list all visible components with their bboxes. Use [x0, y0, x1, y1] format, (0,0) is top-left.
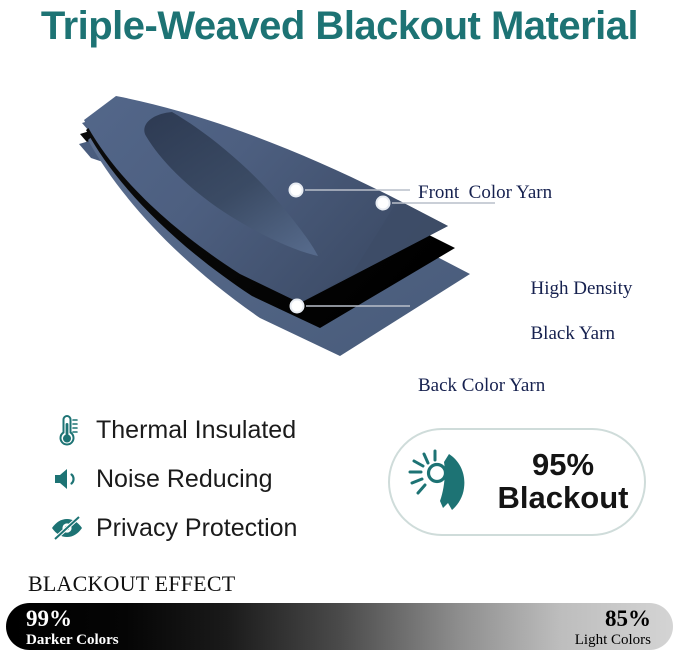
feature-list: Thermal Insulated Noise Reducing [46, 408, 376, 555]
layered-fabric-diagram: Front Color Yarn High Density Black Yarn… [0, 78, 679, 358]
light-label: Light Colors [575, 632, 651, 648]
darker-percent: 99% [26, 607, 119, 632]
label-back-color-yarn: Back Color Yarn [418, 375, 545, 397]
feature-label: Thermal Insulated [96, 416, 296, 445]
light-percent: 85% [575, 607, 651, 632]
page-title: Triple-Weaved Blackout Material [0, 4, 679, 49]
thermometer-icon [46, 411, 88, 449]
feature-noise-reducing: Noise Reducing [46, 457, 376, 501]
badge-text: 95% Blackout [498, 449, 629, 514]
feature-privacy-protection: Privacy Protection [46, 506, 376, 550]
label-line-2: Black Yarn [531, 323, 615, 344]
blackout-percent: 95% [498, 449, 629, 482]
label-line-1: High Density [531, 278, 633, 299]
blackout-badge: 95% Blackout [388, 428, 646, 536]
blackout-word: Blackout [498, 482, 629, 515]
blackout-effect-darker: 99% Darker Colors [26, 607, 119, 648]
eye-slash-icon [46, 509, 88, 547]
darker-label: Darker Colors [26, 632, 119, 648]
feature-thermal-insulated: Thermal Insulated [46, 408, 376, 452]
blackout-effect-light: 85% Light Colors [575, 607, 651, 648]
feature-label: Privacy Protection [96, 514, 297, 543]
product-infographic: Triple-Weaved Blackout Material [0, 0, 679, 654]
label-high-density-black-yarn: High Density Black Yarn [502, 256, 632, 368]
speaker-icon [46, 460, 88, 498]
blackout-effect-title: BLACKOUT EFFECT [28, 571, 235, 597]
feature-label: Noise Reducing [96, 465, 273, 494]
label-front-color-yarn: Front Color Yarn [418, 182, 552, 204]
blackout-effect-gradient-bar: 99% Darker Colors 85% Light Colors [6, 603, 673, 650]
sun-blocked-icon [406, 446, 488, 518]
